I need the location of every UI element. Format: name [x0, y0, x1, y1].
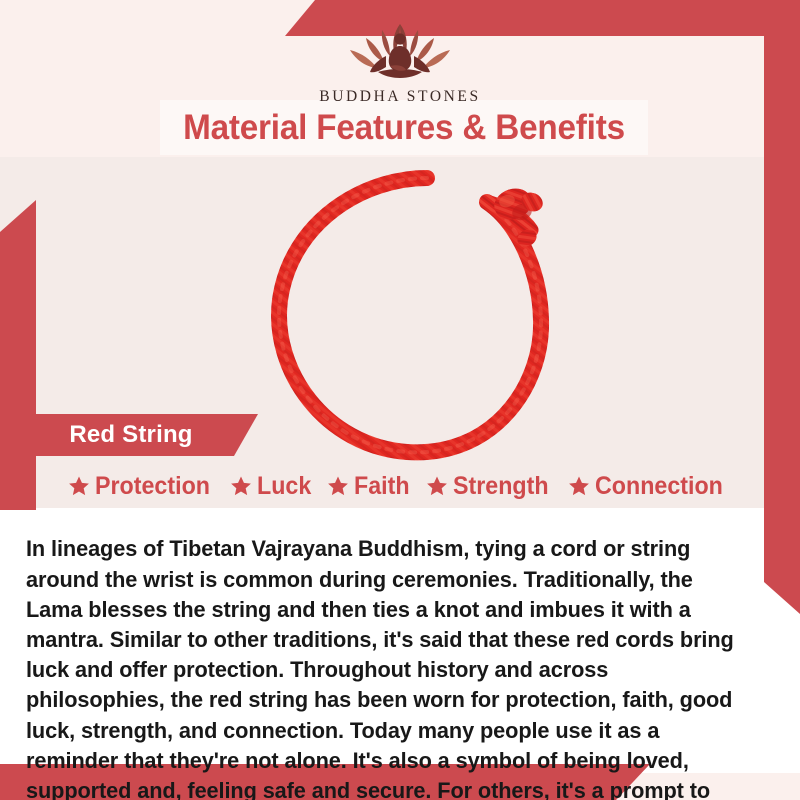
benefits-list: Protection Luck Faith Strength Connectio… — [0, 466, 800, 506]
benefit-item-strength: Strength — [426, 472, 556, 501]
decorative-band-left — [0, 200, 36, 510]
benefit-label: Protection — [95, 472, 210, 501]
benefit-label: Connection — [595, 472, 723, 501]
benefit-label: Faith — [354, 472, 410, 501]
description-paragraph: In lineages of Tibetan Vajrayana Buddhis… — [26, 534, 752, 800]
benefit-item-connection: Connection — [568, 472, 733, 501]
star-icon — [230, 475, 252, 497]
star-icon — [327, 475, 349, 497]
benefit-item-luck: Luck — [230, 472, 315, 501]
star-icon — [568, 475, 590, 497]
brand-logo: BUDDHA STONES — [0, 14, 800, 106]
benefit-item-faith: Faith — [327, 472, 414, 501]
star-icon — [426, 475, 448, 497]
benefit-label: Strength — [453, 472, 549, 501]
benefit-label: Luck — [257, 472, 311, 501]
product-image — [255, 160, 600, 470]
page-title: Material Features & Benefits — [172, 100, 636, 155]
ribbon-label: Red String — [28, 414, 234, 456]
infographic-poster: BUDDHA STONES Material Features & Benefi… — [0, 0, 800, 800]
lotus-meditation-icon — [334, 14, 466, 86]
benefit-item-protection: Protection — [68, 472, 219, 501]
star-icon — [68, 475, 90, 497]
